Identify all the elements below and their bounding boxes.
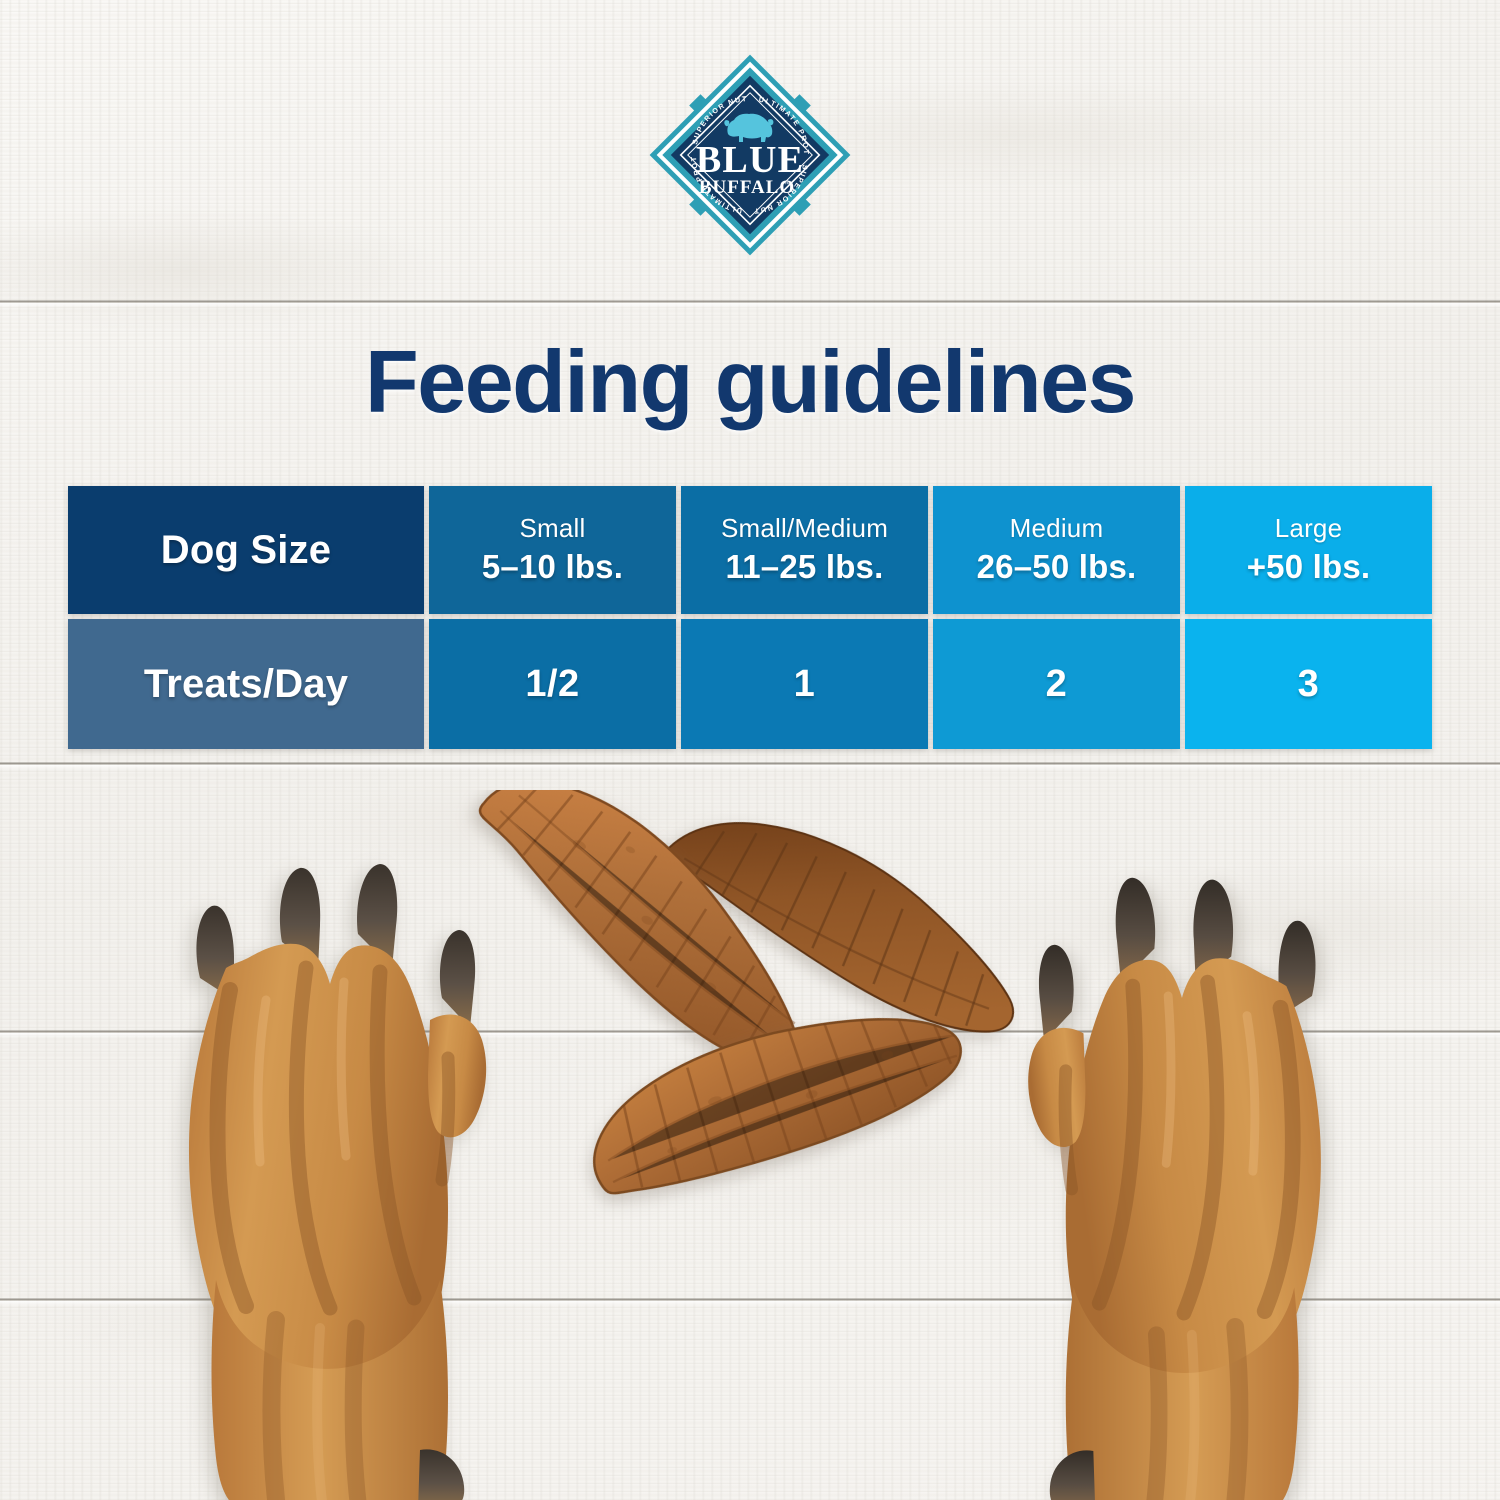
size-name-text: Large (1275, 513, 1343, 544)
claw-icon (1050, 1450, 1096, 1500)
plank-seam (0, 762, 1500, 765)
table-row-treats-per-day: Treats/Day 1/2 1 2 3 (68, 619, 1432, 749)
dog-paw-right (980, 862, 1380, 1500)
value-cell-medium: 2 (933, 619, 1180, 749)
logo-word-buffalo: BUFFALO (699, 177, 795, 198)
claw-icon (418, 1449, 464, 1500)
plank-seam (0, 300, 1500, 303)
value-cell-small-medium: 1 (681, 619, 928, 749)
size-weight-text: 26–50 lbs. (977, 547, 1137, 587)
header-cell-medium: Medium 26–50 lbs. (933, 486, 1180, 614)
size-name-text: Small (519, 513, 585, 544)
page-title: Feeding guidelines (0, 334, 1500, 429)
row-label-text: Treats/Day (144, 662, 348, 707)
size-name-text: Medium (1010, 513, 1104, 544)
size-weight-text: +50 lbs. (1247, 547, 1371, 587)
size-weight-text: 11–25 lbs. (726, 547, 884, 587)
product-photo (0, 790, 1500, 1500)
header-cell-small: Small 5–10 lbs. (429, 486, 676, 614)
treats-value-text: 1 (794, 663, 816, 706)
treats-value-text: 3 (1298, 663, 1320, 706)
value-cell-small: 1/2 (429, 619, 676, 749)
feeding-guidelines-table: Dog Size Small 5–10 lbs. Small/Medium 11… (68, 486, 1432, 749)
blue-buffalo-logo: SUPERIOR NUTRITION ULTIMATE PROTECTION S… (647, 52, 853, 258)
value-cell-large: 3 (1185, 619, 1432, 749)
product-infographic: SUPERIOR NUTRITION ULTIMATE PROTECTION S… (0, 0, 1500, 1500)
logo-trademark-icon: ™ (784, 181, 790, 188)
brand-logo-container: SUPERIOR NUTRITION ULTIMATE PROTECTION S… (0, 52, 1500, 258)
table-row-dog-size: Dog Size Small 5–10 lbs. Small/Medium 11… (68, 486, 1432, 614)
header-cell-small-medium: Small/Medium 11–25 lbs. (681, 486, 928, 614)
treats-value-text: 2 (1046, 663, 1068, 706)
table-row-label-dog-size: Dog Size (68, 486, 424, 614)
logo-word-blue: BLUE (696, 139, 804, 181)
header-cell-large: Large +50 lbs. (1185, 486, 1432, 614)
row-label-text: Dog Size (161, 528, 332, 573)
size-weight-text: 5–10 lbs. (482, 547, 623, 587)
size-name-text: Small/Medium (721, 513, 888, 544)
treats-value-text: 1/2 (525, 663, 579, 706)
table-row-label-treats-day: Treats/Day (68, 619, 424, 749)
